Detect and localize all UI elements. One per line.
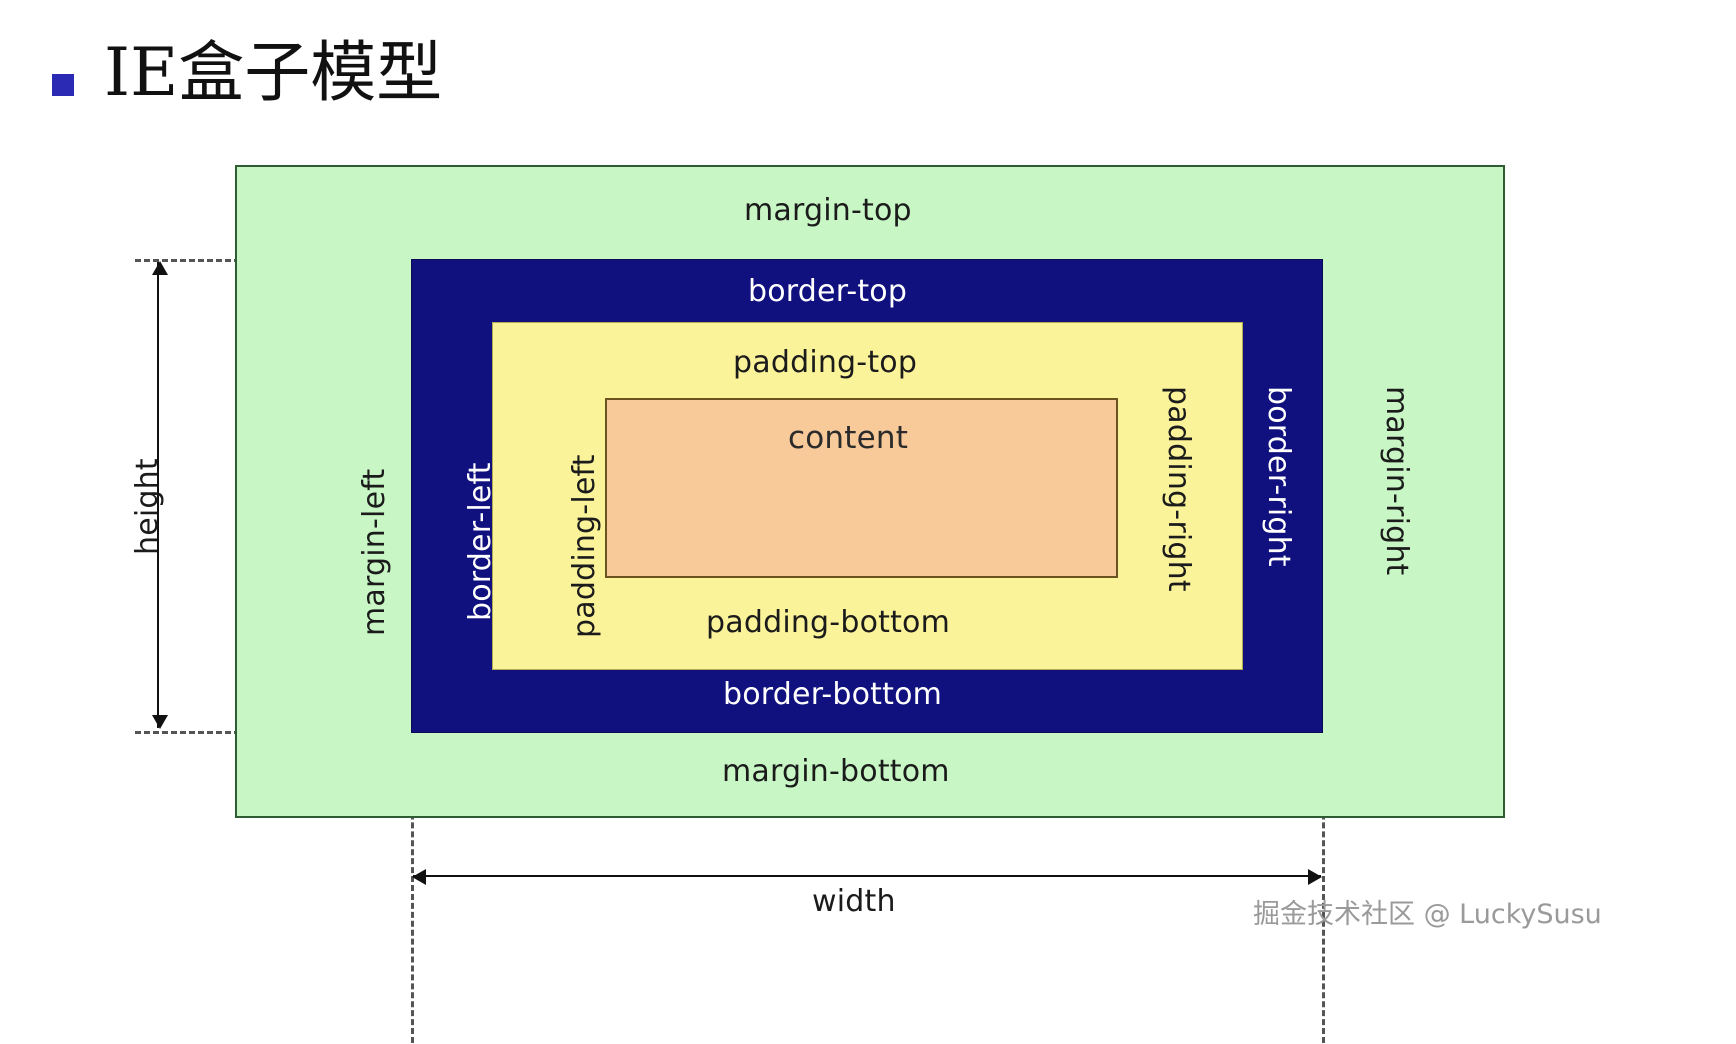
label-width: width xyxy=(812,884,896,919)
label-border-left: border-left xyxy=(463,462,498,621)
label-border-right: border-right xyxy=(1261,386,1296,567)
label-margin-left: margin-left xyxy=(357,469,392,636)
label-border-bottom: border-bottom xyxy=(723,677,942,712)
label-padding-top: padding-top xyxy=(733,345,917,380)
label-height: height xyxy=(130,458,165,555)
label-margin-bottom: margin-bottom xyxy=(722,754,950,789)
box-model-diagram: margin-top border-top padding-top conten… xyxy=(0,0,1736,1044)
label-padding-bottom: padding-bottom xyxy=(706,605,950,640)
width-dimension-arrow xyxy=(413,875,1321,877)
label-padding-left: padding-left xyxy=(567,454,602,638)
label-content: content xyxy=(788,420,908,456)
watermark: 掘金技术社区 @ LuckySusu xyxy=(1253,892,1602,931)
label-margin-top: margin-top xyxy=(744,193,912,228)
label-padding-right: padding-right xyxy=(1161,386,1196,592)
label-border-top: border-top xyxy=(748,274,907,309)
label-margin-right: margin-right xyxy=(1379,386,1414,576)
